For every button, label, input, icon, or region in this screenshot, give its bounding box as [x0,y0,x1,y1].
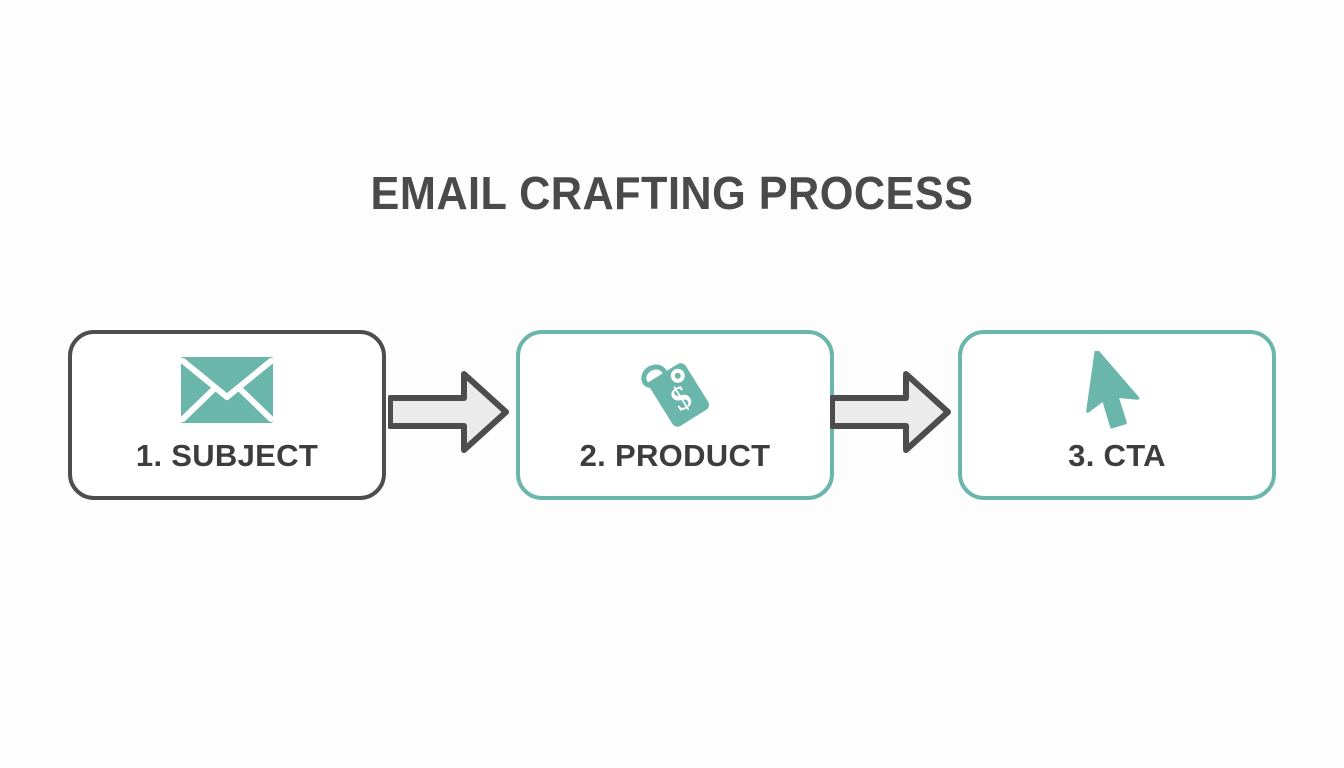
process-flow: 1. SUBJECT $ 2. PRODU [0,328,1344,504]
process-step-1-label: 1. SUBJECT [72,438,382,474]
process-step-2-label: 2. PRODUCT [520,438,830,474]
cursor-pointer-icon [962,352,1272,428]
page-title: EMAIL CRAFTING PROCESS [40,162,1303,224]
process-step-1[interactable]: 1. SUBJECT [68,330,386,500]
process-step-3[interactable]: 3. CTA [958,330,1276,500]
price-tag-icon: $ [520,352,830,428]
diagram-canvas: EMAIL CRAFTING PROCESS 1. SUBJECT [0,0,1344,768]
process-step-2[interactable]: $ 2. PRODUCT [516,330,834,500]
process-step-3-label: 3. CTA [962,438,1272,474]
envelope-icon [72,352,382,428]
right-arrow-icon [388,368,510,456]
right-arrow-icon [830,368,952,456]
